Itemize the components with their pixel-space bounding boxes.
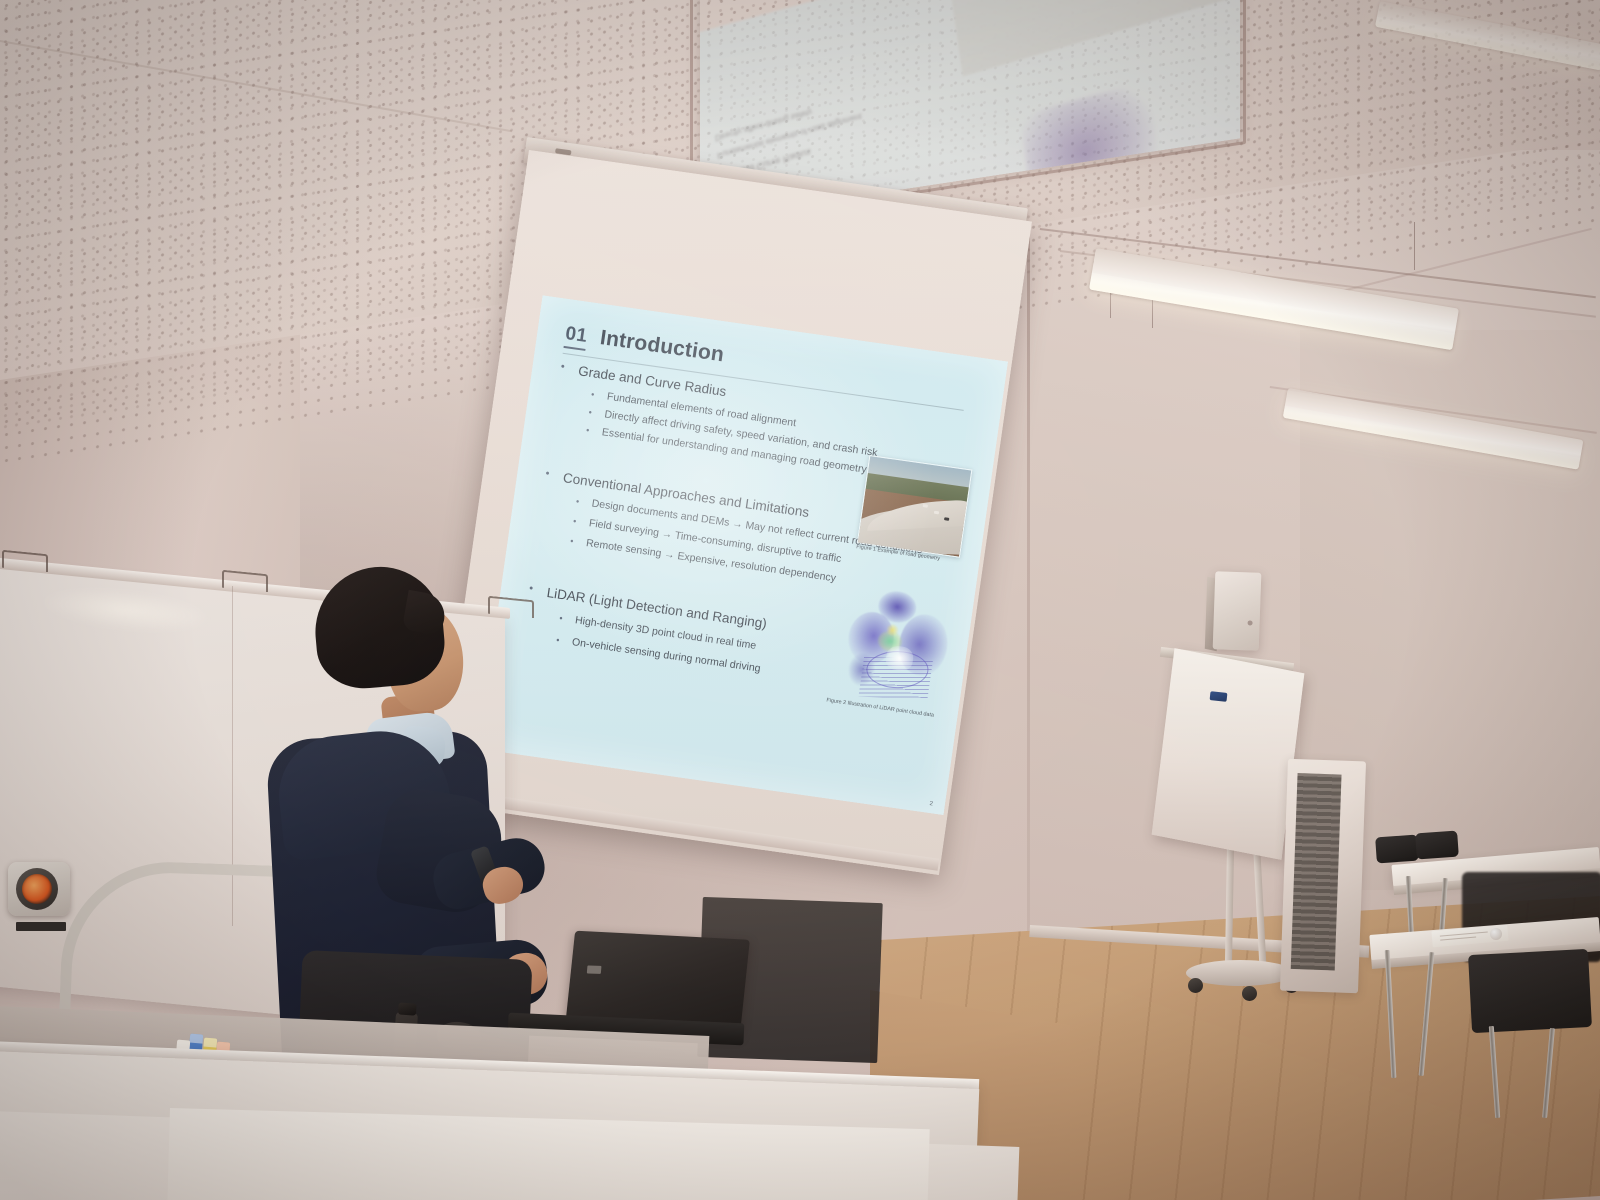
document-camera-head[interactable]	[8, 862, 70, 916]
camera-label-strip	[16, 922, 66, 931]
figure-road-photo	[857, 455, 973, 558]
flip-chart-board[interactable]	[1152, 648, 1305, 860]
paper-text-line	[1440, 936, 1476, 940]
corner-heater	[1280, 759, 1366, 994]
bottle-cap	[398, 1002, 417, 1015]
slide-section-number: 01	[563, 323, 588, 351]
flipchart-magnet[interactable]	[1210, 691, 1228, 702]
desk-object[interactable]	[1490, 928, 1502, 940]
seminar-chair[interactable]	[1375, 835, 1419, 864]
flipchart-caster	[1242, 986, 1257, 1001]
lecture-room-photo: Introduction Grade and Curve Radius Fund…	[0, 0, 1600, 1200]
flipchart-caster	[1188, 978, 1203, 993]
photo-vehicle	[923, 504, 928, 508]
speaker-indicator	[1248, 620, 1253, 625]
paper-text-line	[1440, 931, 1488, 936]
camera-lens-icon	[22, 874, 52, 904]
projected-slide: 01 Introduction • Grade and Curve Radius…	[478, 295, 1008, 815]
seminar-chair[interactable]	[1415, 831, 1459, 860]
bullet-marker: •	[559, 613, 564, 623]
bullet-marker: •	[560, 361, 566, 373]
seminar-chair[interactable]	[1468, 949, 1592, 1033]
bullet-marker: •	[545, 468, 551, 480]
bullet-marker: •	[572, 516, 577, 526]
slide-page-number: 2	[929, 801, 933, 807]
bullet-marker: •	[585, 425, 590, 435]
bullet-marker: •	[570, 536, 575, 546]
lamp-suspension-wire	[1414, 222, 1415, 270]
slide-bullet-l1: Grade and Curve Radius	[577, 363, 727, 399]
wall-speaker	[1213, 571, 1262, 651]
bullet-marker: •	[591, 389, 596, 399]
marker-tip	[204, 1038, 218, 1048]
heater-grill	[1291, 773, 1342, 970]
figure-lidar-point-cloud	[831, 577, 959, 710]
marker-tip	[190, 1034, 204, 1044]
bullet-marker: •	[556, 635, 561, 645]
bullet-marker: •	[588, 407, 593, 417]
bullet-marker: •	[575, 496, 580, 506]
laptop-brand-logo	[587, 965, 602, 973]
